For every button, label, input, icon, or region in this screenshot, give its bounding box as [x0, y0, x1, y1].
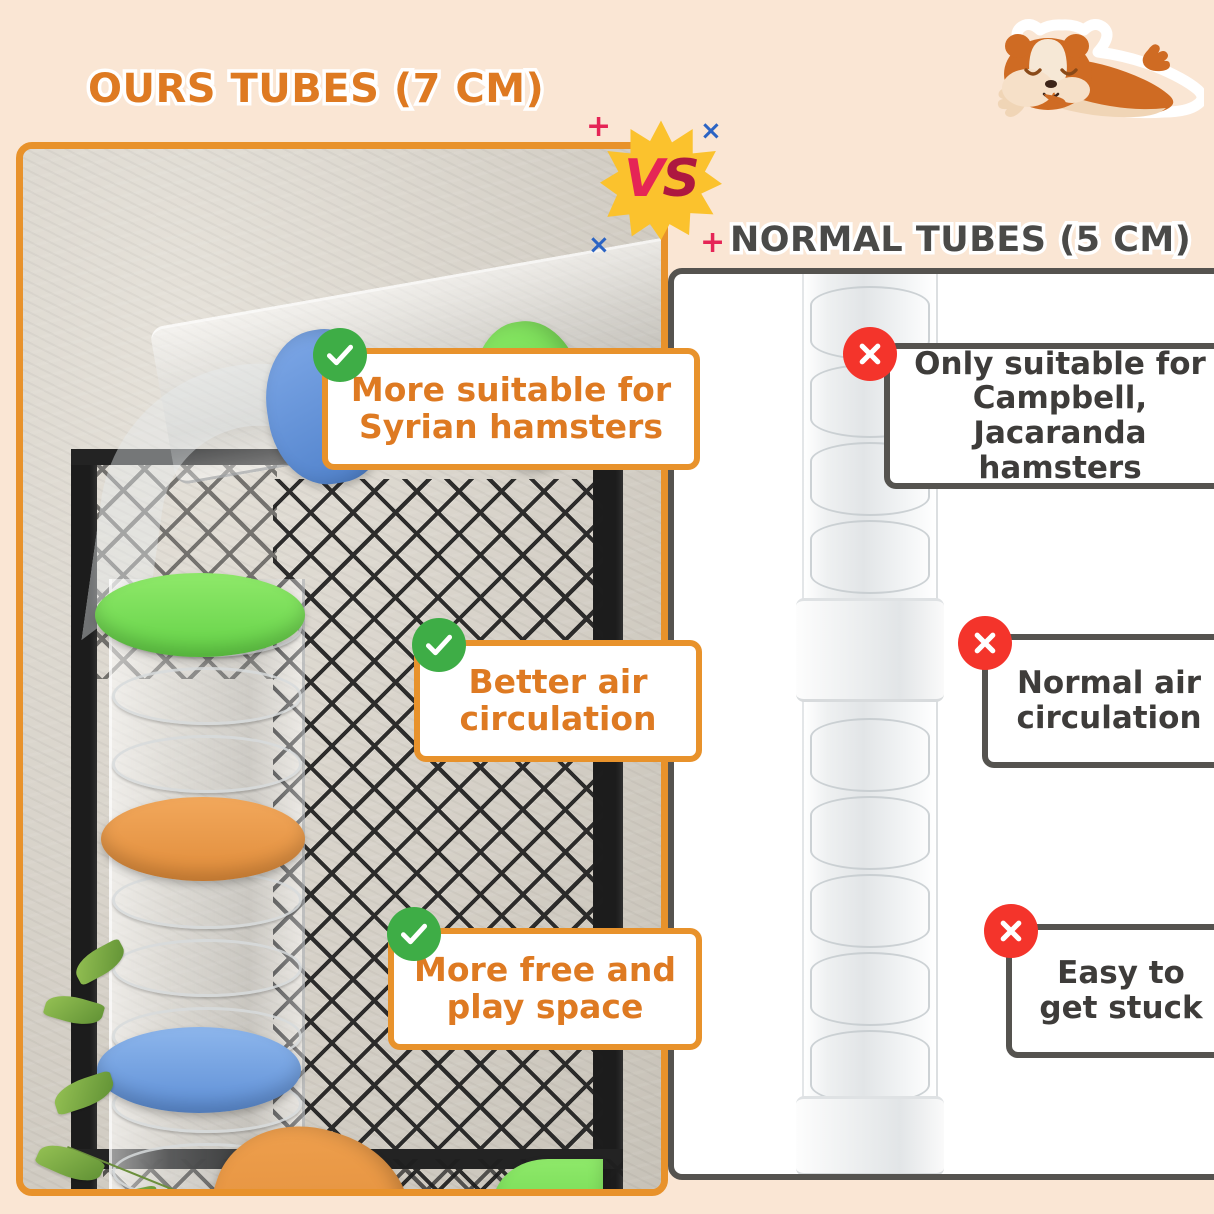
- check-icon: [412, 618, 466, 672]
- cross-icon: [958, 616, 1012, 670]
- normal-tube-segment: [810, 874, 930, 948]
- feature-text: Only suitable for Campbell, Jacaranda ha…: [908, 347, 1212, 486]
- check-icon: [387, 907, 441, 961]
- vs-badge: VS: [600, 118, 722, 240]
- cross-icon: [843, 327, 897, 381]
- vs-letter-v: V: [624, 149, 662, 209]
- normal-tube-segment: [810, 718, 930, 792]
- tube-ring-blue-lower: [97, 1027, 301, 1113]
- normal-tube-joint-bottom: [796, 1096, 944, 1176]
- normal-tube-segment: [810, 796, 930, 870]
- vs-label: VS: [600, 118, 722, 240]
- page-title-ours: OURS TUBES (7 CM): [88, 66, 544, 112]
- cross-icon: [984, 904, 1038, 958]
- page-title-normal: NORMAL TUBES (5 CM): [730, 220, 1191, 260]
- hamster-mascot: [952, 14, 1204, 134]
- normal-tube-joint: [796, 598, 944, 702]
- feature-text: Easy to get stuck: [1039, 956, 1202, 1025]
- feature-text: Better air circulation: [459, 664, 656, 738]
- feature-callout-bad-1: Only suitable for Campbell, Jacaranda ha…: [884, 343, 1214, 489]
- feature-text: More suitable for Syrian hamsters: [351, 372, 671, 446]
- normal-tube-segment: [810, 952, 930, 1026]
- normal-tube-segment: [810, 1030, 930, 1104]
- check-icon: [313, 328, 367, 382]
- feature-callout-bad-2: Normal air circulation: [982, 634, 1214, 768]
- tube-coil: [112, 939, 302, 997]
- tube-ring-orange-middle: [101, 797, 305, 881]
- tube-ring-green-upper: [95, 573, 305, 657]
- feature-callout-bad-3: Easy to get stuck: [1006, 924, 1214, 1058]
- tube-coil: [112, 667, 302, 725]
- tube-coil: [112, 735, 302, 793]
- feature-text: Normal air circulation: [1016, 666, 1201, 735]
- feature-callout-good-1: More suitable for Syrian hamsters: [322, 348, 700, 470]
- vs-letter-s: S: [662, 149, 697, 209]
- normal-tube-segment: [810, 520, 930, 594]
- feature-text: More free and play space: [414, 952, 676, 1026]
